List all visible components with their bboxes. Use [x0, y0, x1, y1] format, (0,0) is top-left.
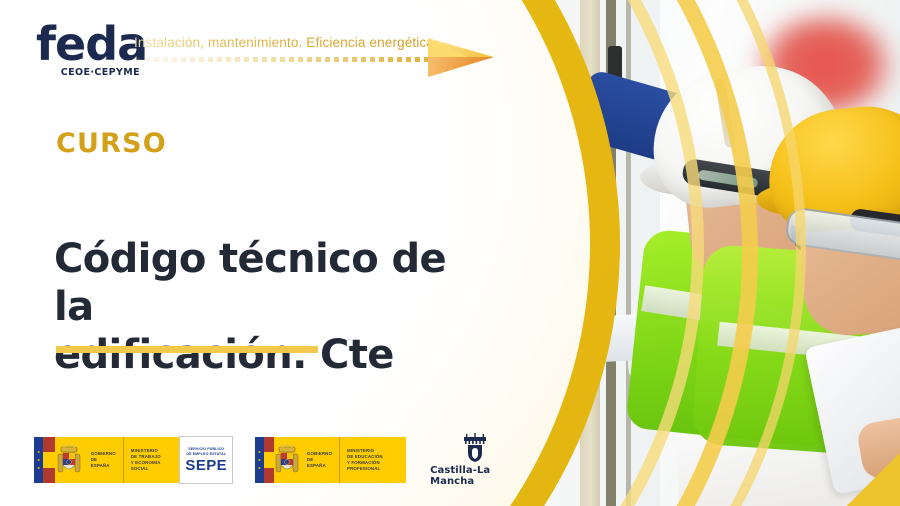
spain-coat-of-arms-icon: [274, 437, 300, 483]
logo-sepe: SERVICIO PÚBLICO DE EMPLEO ESTATAL SEPE: [179, 436, 233, 484]
logo-castilla-la-mancha: Castilla-La Mancha: [430, 433, 520, 487]
feda-logo[interactable]: feda CEOE·CEPYME: [36, 22, 147, 78]
page-kicker: CURSO: [56, 128, 167, 159]
paper-plane-icon: [424, 32, 498, 84]
logo-text-ministerio-trabajo: MINISTERIO DE TRABAJO Y ECONOMÍA SOCIAL: [123, 437, 179, 483]
sepe-subtitle: SERVICIO PÚBLICO DE EMPLEO ESTATAL: [186, 447, 226, 456]
eu-flag-icon: [255, 437, 263, 483]
spain-flag-icon: [43, 437, 54, 483]
sepe-wordmark: SEPE: [185, 458, 227, 473]
page-title-line-2: edificación. Cte: [54, 331, 494, 379]
spain-flag-icon: [264, 437, 274, 483]
logo-text-ministerio-educacion: MINISTERIO DE EDUCACIÓN Y FORMACIÓN PROF…: [339, 437, 406, 483]
eu-flag-icon: [34, 437, 43, 483]
corner-wedge-accent: [846, 452, 900, 506]
spain-coat-of-arms-icon: [55, 437, 84, 483]
title-underline-rule: [56, 346, 318, 353]
castilla-la-mancha-shield-icon: [460, 433, 490, 463]
tagline: Instalación, mantenimiento. Eficiencia e…: [134, 35, 454, 50]
logo-gobierno-trabajo: GOBIERNO DE ESPAÑA MINISTERIO DE TRABAJO…: [34, 436, 233, 484]
course-promo-banner: feda CEOE·CEPYME Instalación, mantenimie…: [0, 0, 900, 506]
content-panel: feda CEOE·CEPYME Instalación, mantenimie…: [0, 0, 520, 506]
page-title-line-1: Código técnico de la: [54, 235, 494, 331]
footer-logo-strip: GOBIERNO DE ESPAÑA MINISTERIO DE TRABAJO…: [34, 433, 520, 487]
logo-text-gobierno: GOBIERNO DE ESPAÑA: [84, 437, 123, 483]
dotted-trail-icon: [136, 57, 442, 62]
feda-logo-wordmark: feda: [36, 22, 147, 66]
logo-text-gobierno: GOBIERNO DE ESPAÑA: [300, 437, 339, 483]
castilla-la-mancha-label: Castilla-La Mancha: [430, 465, 520, 487]
logo-gobierno-educacion: GOBIERNO DE ESPAÑA MINISTERIO DE EDUCACI…: [255, 437, 406, 483]
page-title: Código técnico de la edificación. Cte: [54, 235, 494, 379]
